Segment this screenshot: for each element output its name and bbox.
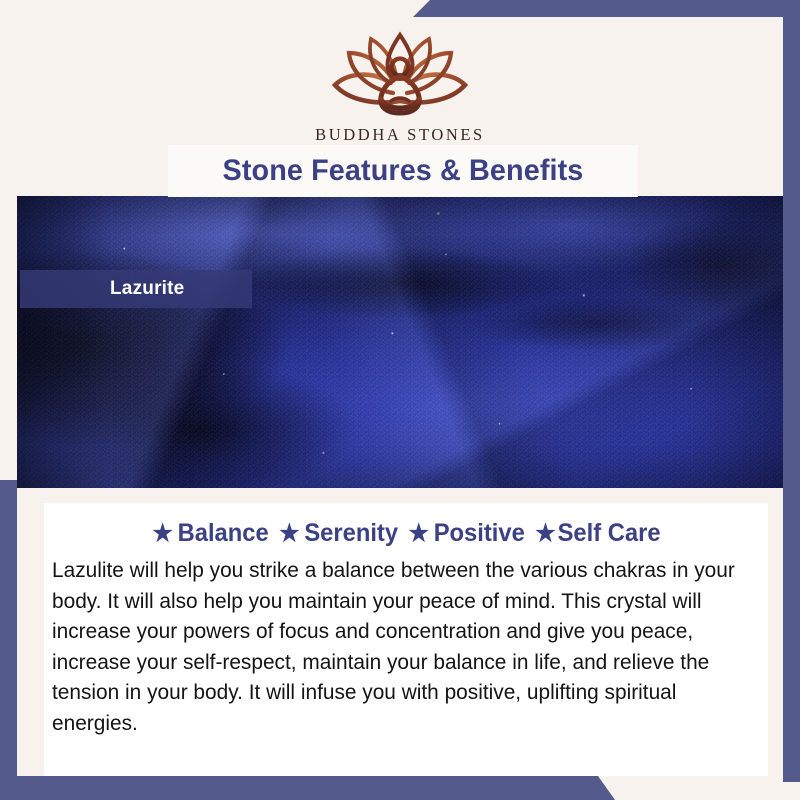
lotus-meditation-logo-icon bbox=[305, 27, 495, 123]
frame-band-top bbox=[0, 0, 800, 17]
brand-name: BUDDHA STONES bbox=[17, 125, 783, 145]
keyword-self-care: Self Care bbox=[557, 519, 661, 547]
keyword-list: ★Balance★Serenity★Positive★Self Care bbox=[62, 519, 750, 548]
keyword-balance: Balance bbox=[174, 519, 278, 547]
keyword-positive: Positive bbox=[430, 519, 534, 547]
photo-layer-vignette bbox=[17, 196, 783, 488]
title-plate: Stone Features & Benefits bbox=[168, 145, 638, 197]
stone-name: Lazurite bbox=[20, 278, 184, 300]
content-card: ★Balance★Serenity★Positive★Self Care Laz… bbox=[44, 503, 768, 776]
star-icon: ★ bbox=[278, 520, 300, 547]
frame-band-right bbox=[783, 0, 800, 782]
stone-name-banner: Lazurite bbox=[20, 270, 252, 308]
frame-band-bottom bbox=[0, 776, 800, 800]
star-icon: ★ bbox=[534, 520, 556, 547]
keyword-serenity: Serenity bbox=[301, 519, 408, 547]
poster-page: BUDDHA STONES Stone Features & Benefits … bbox=[17, 17, 783, 776]
star-icon: ★ bbox=[408, 520, 430, 547]
star-icon: ★ bbox=[151, 520, 173, 547]
page-title: Stone Features & Benefits bbox=[223, 154, 584, 188]
stone-info-poster: BUDDHA STONES Stone Features & Benefits … bbox=[0, 0, 800, 800]
frame-band-left bbox=[0, 480, 17, 800]
stone-photo bbox=[17, 196, 783, 488]
stone-description: Lazulite will help you strike a balance … bbox=[52, 555, 743, 738]
brand-logo: BUDDHA STONES bbox=[17, 27, 783, 145]
content-area: ★Balance★Serenity★Positive★Self Care Laz… bbox=[17, 488, 783, 776]
